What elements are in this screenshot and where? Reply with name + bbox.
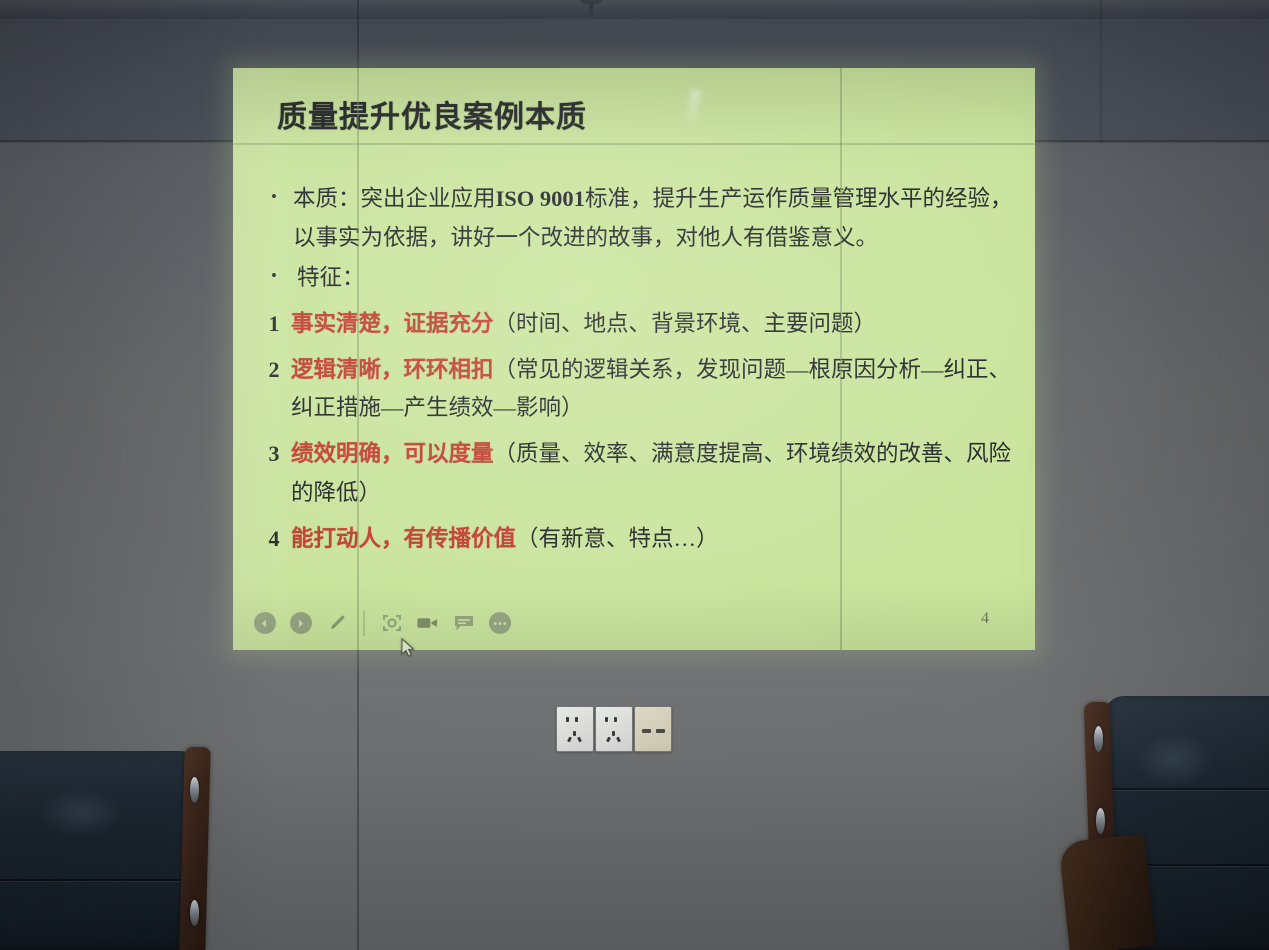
- chair-seam: [1111, 788, 1269, 790]
- sprinkler-stem: [589, 3, 593, 16]
- next-slide-button[interactable]: [289, 612, 312, 635]
- chair-backrest: [0, 751, 198, 950]
- page-title: 质量提升优良案例本质: [277, 92, 587, 136]
- essence-label: 本质：: [293, 186, 361, 211]
- chair-metal-stud: [1094, 726, 1103, 752]
- magnify-frame-icon: [381, 612, 403, 634]
- socket-top-holes: [566, 717, 578, 722]
- bullet-features-label: • 特征：: [257, 259, 1013, 298]
- list-item: 3 绩效明确，可以度量（质量、效率、满意度提高、环境绩效的改善、风险的降低）: [257, 435, 1013, 512]
- pen-tools-button[interactable]: [325, 612, 348, 635]
- slide-page-number: 4: [981, 610, 989, 628]
- socket-bottom-holes: [568, 731, 582, 742]
- socket-bottom-holes: [607, 731, 621, 742]
- wall-vertical-seam-right: [1100, 0, 1102, 143]
- list-item-highlight: 事实清楚，证据充分: [291, 311, 494, 336]
- slide-body: • 本质：突出企业应用ISO 9001标准，提升生产运作质量管理水平的经验，以事…: [257, 180, 1013, 560]
- chair-seam: [0, 879, 189, 881]
- more-options-button[interactable]: [488, 612, 511, 635]
- essence-text-pre: 突出企业应用: [361, 186, 496, 211]
- list-item-text: 事实清楚，证据充分（时间、地点、背景环境、主要问题）: [291, 305, 1013, 344]
- wall-socket-2: [595, 706, 633, 752]
- chair-metal-stud: [190, 900, 199, 926]
- list-item-highlight: 逻辑清晰，环环相扣: [291, 357, 494, 382]
- chair-left: [0, 735, 236, 950]
- bullet-dot: •: [257, 180, 291, 213]
- list-item: 4 能打动人，有传播价值（有新意、特点…）: [257, 520, 1013, 559]
- list-item-text: 逻辑清晰，环环相扣（常见的逻辑关系，发现问题—根原因分析—纠正、纠正措施—产生绩…: [291, 351, 1013, 428]
- chevron-left-circle-icon: [254, 612, 276, 634]
- list-item: 2 逻辑清晰，环环相扣（常见的逻辑关系，发现问题—根原因分析—纠正、纠正措施—产…: [257, 351, 1013, 428]
- socket-top-holes: [605, 717, 617, 722]
- meeting-room-scene: 质量提升优良案例本质 • 本质：突出企业应用ISO 9001标准，提升生产运作质…: [0, 0, 1269, 950]
- previous-slide-button[interactable]: [253, 612, 276, 635]
- presenter-toolbar[interactable]: [253, 610, 511, 636]
- essence-text: 本质：突出企业应用ISO 9001标准，提升生产运作质量管理水平的经验，以事实为…: [291, 180, 1013, 257]
- list-item: 1 事实清楚，证据充分（时间、地点、背景环境、主要问题）: [257, 305, 1013, 344]
- standard-name: ISO 9001: [496, 186, 585, 211]
- list-item-number: 2: [257, 351, 291, 389]
- chair-right: [1064, 688, 1269, 950]
- list-item-detail: （有新意、特点…）: [516, 526, 719, 551]
- list-item-text: 能打动人，有传播价值（有新意、特点…）: [291, 520, 1013, 559]
- projection-light-streak: [685, 89, 702, 124]
- sprinkler-head-icon: [578, 0, 604, 18]
- toolbar-divider: [363, 610, 365, 636]
- list-item-highlight: 绩效明确，可以度量: [291, 441, 494, 466]
- list-item-detail: （时间、地点、背景环境、主要问题）: [494, 311, 877, 336]
- start-video-button[interactable]: [416, 612, 439, 635]
- toggle-subtitles-button[interactable]: [452, 612, 475, 635]
- leather-highlight: [23, 779, 141, 847]
- chair-metal-stud: [1096, 808, 1105, 834]
- list-item-highlight: 能打动人，有传播价值: [291, 526, 516, 551]
- list-item-number: 4: [257, 520, 291, 558]
- projected-slide[interactable]: 质量提升优良案例本质 • 本质：突出企业应用ISO 9001标准，提升生产运作质…: [233, 68, 1035, 650]
- list-item-number: 3: [257, 435, 291, 473]
- ellipsis-circle-icon: [489, 612, 511, 634]
- wall-socket-3: [634, 706, 672, 752]
- chevron-right-circle-icon: [290, 612, 312, 634]
- subtitles-icon: [453, 614, 475, 632]
- socket-flat-pin-holes: [642, 729, 665, 733]
- list-item-number: 1: [257, 305, 291, 343]
- bullet-essence: • 本质：突出企业应用ISO 9001标准，提升生产运作质量管理水平的经验，以事…: [257, 180, 1013, 257]
- bullet-dot: •: [257, 259, 291, 292]
- wall-socket-1: [556, 706, 594, 752]
- zoom-into-slide-button[interactable]: [380, 612, 403, 635]
- projection-seam-horizontal: [233, 143, 1035, 145]
- features-label-text: 特征：: [291, 259, 1013, 298]
- list-item-text: 绩效明确，可以度量（质量、效率、满意度提高、环境绩效的改善、风险的降低）: [291, 435, 1013, 512]
- leather-highlight: [1122, 721, 1227, 797]
- wall-socket-group: [556, 706, 672, 752]
- chair-metal-stud: [190, 777, 199, 803]
- ceiling-edge-strip: [0, 0, 1269, 19]
- pen-icon: [326, 612, 348, 634]
- video-camera-icon: [416, 614, 439, 632]
- mouse-cursor-icon: [401, 638, 415, 658]
- chair-armrest: [1058, 834, 1155, 950]
